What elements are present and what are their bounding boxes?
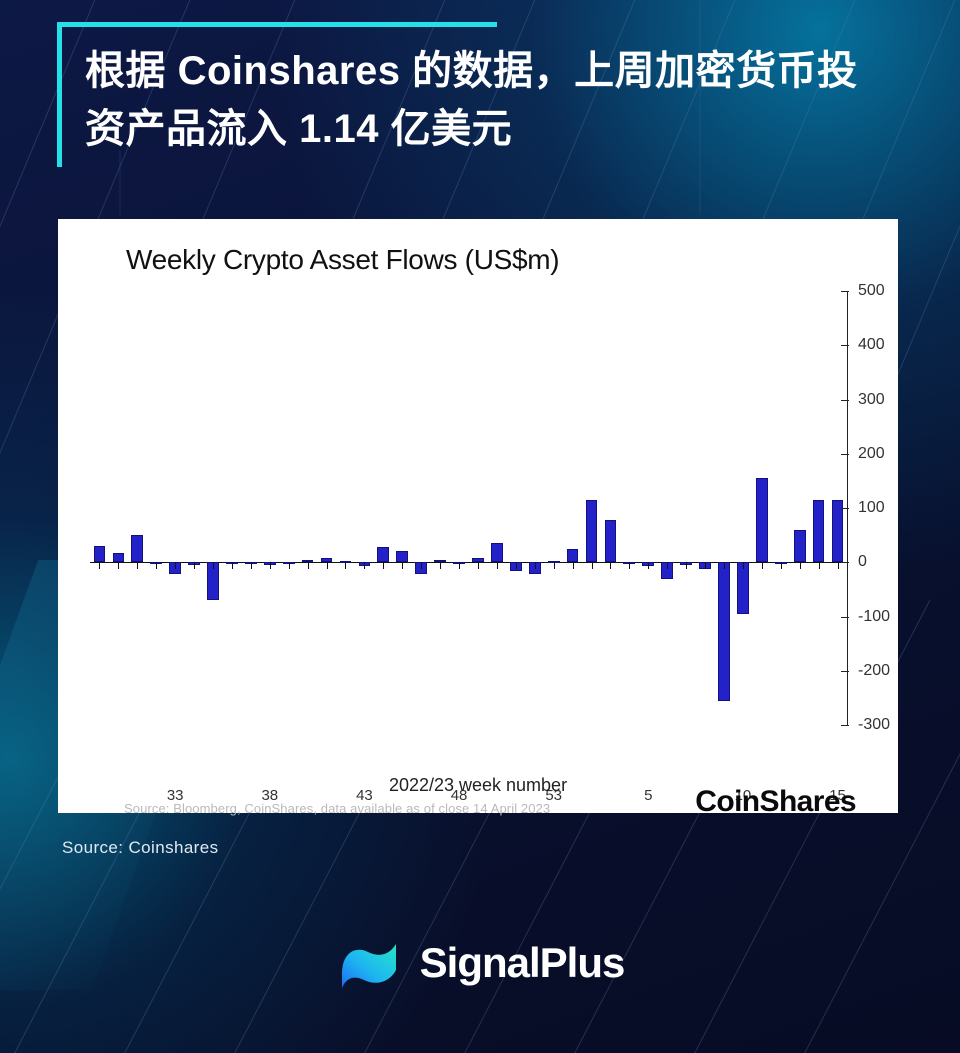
x-tick [251,562,252,569]
y-tick-label: 400 [858,336,885,354]
x-tick [762,562,763,569]
x-tick [289,562,290,569]
y-tick-label: 0 [858,553,867,571]
x-tick [345,562,346,569]
y-tick-label: 500 [858,282,885,300]
x-tick [364,562,365,569]
x-tick [459,562,460,569]
x-tick [383,562,384,569]
zero-baseline [90,562,847,563]
x-tick [667,562,668,569]
y-tick [841,400,849,401]
y-tick [841,345,849,346]
x-tick [800,562,801,569]
y-tick [841,617,849,618]
x-tick [194,562,195,569]
headline-block: 根据 Coinshares 的数据，上周加密货币投资产品流入 1.14 亿美元 [57,22,887,158]
x-tick [629,562,630,569]
bar [813,500,825,562]
accent-bar-left [57,22,62,167]
x-tick [535,562,536,569]
bar [586,500,598,562]
x-tick [724,562,725,569]
y-tick-label: 100 [858,499,885,517]
x-tick [686,562,687,569]
y-tick-label: -200 [858,662,890,680]
x-tick [327,562,328,569]
x-tick [118,562,119,569]
page-title: 根据 Coinshares 的数据，上周加密货币投资产品流入 1.14 亿美元 [85,22,885,158]
x-tick [838,562,839,569]
chart-source-note: Source: Bloomberg, CoinShares, data avai… [124,801,550,816]
bar [94,546,106,562]
x-tick [497,562,498,569]
poster-root: 根据 Coinshares 的数据，上周加密货币投资产品流入 1.14 亿美元 … [0,0,960,1053]
x-tick [99,562,100,569]
x-tick [648,562,649,569]
x-tick [156,562,157,569]
coinshares-logo: CoinShares [695,785,856,819]
bar [396,551,408,562]
x-tick [213,562,214,569]
x-tick [516,562,517,569]
x-tick [592,562,593,569]
y-axis-cap [843,291,848,292]
accent-bar-top [57,22,497,27]
x-tick [308,562,309,569]
bar [567,549,579,563]
bar [605,520,617,562]
bar [737,562,749,614]
bar [718,562,730,700]
x-tick [421,562,422,569]
x-tick [440,562,441,569]
x-tick [137,562,138,569]
x-tick [743,562,744,569]
x-tick [705,562,706,569]
x-tick [402,562,403,569]
bar [832,500,844,562]
x-tick [554,562,555,569]
x-tick [232,562,233,569]
y-tick-label: 200 [858,445,885,463]
y-axis-cap [843,725,848,726]
chart-plot-area: 5004003002001000-100-200-300 33384348535… [78,291,878,746]
y-tick-label: -300 [858,716,890,734]
x-tick [478,562,479,569]
y-tick [841,671,849,672]
bar [377,547,389,562]
x-tick [819,562,820,569]
x-tick [573,562,574,569]
chart-card: Weekly Crypto Asset Flows (US$m) 5004003… [58,219,898,813]
y-tick [841,508,849,509]
bar [491,543,503,563]
footer-source: Source: Coinshares [62,838,219,858]
chart-title: Weekly Crypto Asset Flows (US$m) [126,244,559,276]
x-tick [610,562,611,569]
signalplus-logo: SignalPlus [0,930,960,996]
y-tick [841,454,849,455]
bar [113,553,125,562]
y-tick [841,562,849,563]
x-tick [175,562,176,569]
bar [756,478,768,562]
bar [794,530,806,563]
bars-container [90,291,847,746]
x-tick [270,562,271,569]
signalplus-mark-icon [336,930,402,996]
bar [131,535,143,562]
y-tick-label: -100 [858,608,890,626]
y-tick-label: 300 [858,391,885,409]
signalplus-wordmark: SignalPlus [420,939,625,987]
x-tick [781,562,782,569]
